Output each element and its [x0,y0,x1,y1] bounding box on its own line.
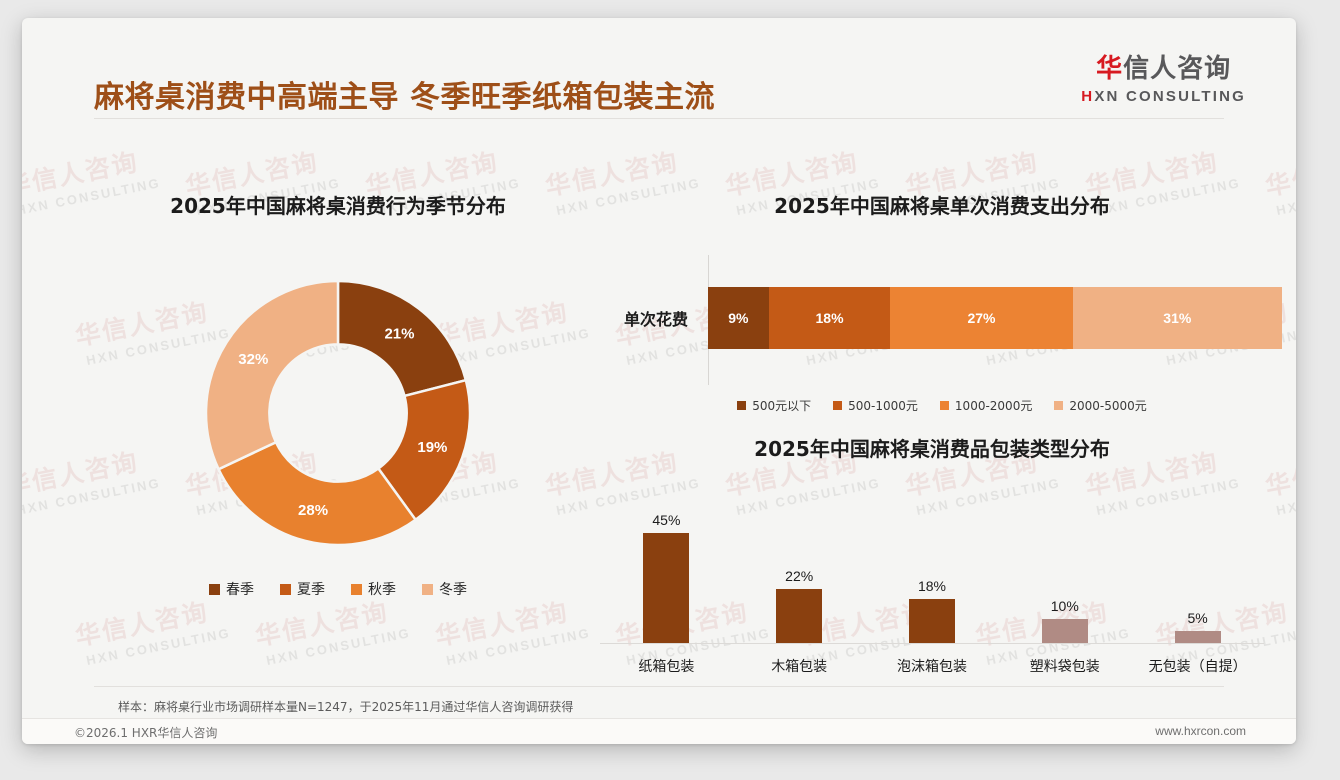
stacked-bar-segment-1000-2000元[interactable]: 27% [890,287,1072,349]
brand-logo-en: HXN CONSULTING [1081,89,1246,104]
stacked-legend-item[interactable]: 500元以下 [737,397,811,414]
column-xlabel: 泡沫箱包装 [866,656,999,676]
spend-stacked-bar-row: 9%18%27%31% [708,287,1282,349]
column-xlabel: 无包装（自提） [1131,656,1264,676]
brand-logo-en-rest: XN CONSULTING [1094,88,1246,105]
stacked-legend-item[interactable]: 1000-2000元 [940,397,1032,414]
spend-stacked-plot: 单次花费 9%18%27%31% [602,255,1282,385]
spend-category-label: 单次花费 [602,287,698,349]
brand-logo-en-highlight: H [1081,88,1094,105]
legend-swatch-icon [833,401,842,410]
column-cell: 5% [1131,492,1264,643]
column-value-label: 22% [785,568,813,584]
legend-swatch-icon [351,584,362,595]
column-cell: 45% [600,492,733,643]
packaging-column-title: 2025年中国麻将桌消费品包装类型分布 [582,433,1282,462]
donut-slice-label: 21% [384,326,414,343]
stacked-bar-segment-500-1000元[interactable]: 18% [769,287,891,349]
column-cell: 18% [866,492,999,643]
brand-logo: 华信人咨询 HXN CONSULTING [1081,56,1246,104]
season-donut-legend: 春季夏季秋季冬季 [68,579,608,599]
footer-copyright: ©2026.1 HXR华信人咨询 [74,724,217,741]
donut-slice-冬季[interactable] [206,281,338,469]
legend-swatch-icon [940,401,949,410]
slide-header: 麻将桌消费中高端主导 冬季旺季纸箱包装主流 华信人咨询 HXN CONSULTI… [22,18,1296,118]
packaging-column-baseline [600,643,1264,644]
page-title: 麻将桌消费中高端主导 冬季旺季纸箱包装主流 [94,72,715,116]
stacked-legend-item[interactable]: 500-1000元 [833,397,918,414]
season-donut-panel: 2025年中国麻将桌消费行为季节分布 21%19%28%32% 春季夏季秋季冬季 [68,168,608,658]
spend-stacked-title: 2025年中国麻将桌单次消费支出分布 [602,190,1282,219]
column-bar-塑料袋包装[interactable] [1042,619,1088,643]
column-value-label: 45% [652,512,680,528]
packaging-column-bars: 45%22%18%10%5% [600,492,1264,643]
packaging-column-xlabels: 纸箱包装木箱包装泡沫箱包装塑料袋包装无包装（自提） [600,656,1264,676]
column-xlabel: 塑料袋包装 [998,656,1131,676]
footnote-divider [94,686,1224,687]
donut-slice-label: 28% [298,502,328,519]
column-value-label: 10% [1051,598,1079,614]
column-cell: 22% [733,492,866,643]
stacked-bar-segment-2000-5000元[interactable]: 31% [1073,287,1282,349]
column-xlabel: 纸箱包装 [600,656,733,676]
packaging-column-panel: 2025年中国麻将桌消费品包装类型分布 45%22%18%10%5% 纸箱包装木… [582,433,1282,683]
column-bar-泡沫箱包装[interactable] [909,599,955,643]
donut-legend-item[interactable]: 春季 [209,579,254,599]
footer-website[interactable]: www.hxrcon.com [1155,724,1246,738]
donut-legend-item[interactable]: 秋季 [351,579,396,599]
donut-legend-label: 秋季 [368,579,396,599]
season-donut-chart: 21%19%28%32% [198,273,478,553]
column-xlabel: 木箱包装 [733,656,866,676]
stacked-legend-label: 500-1000元 [848,397,918,414]
slide-footer: ©2026.1 HXR华信人咨询 www.hxrcon.com [22,719,1296,744]
column-bar-木箱包装[interactable] [776,589,822,643]
donut-slice-秋季[interactable] [219,442,416,545]
brand-logo-cn-highlight: 华 [1096,54,1123,84]
donut-legend-item[interactable]: 夏季 [280,579,325,599]
legend-swatch-icon [737,401,746,410]
stacked-bar-segment-500元以下[interactable]: 9% [708,287,769,349]
donut-legend-label: 夏季 [297,579,325,599]
stacked-legend-item[interactable]: 2000-5000元 [1054,397,1146,414]
column-value-label: 5% [1187,610,1207,626]
donut-legend-label: 春季 [226,579,254,599]
stacked-legend-label: 1000-2000元 [955,397,1032,414]
spend-stacked-legend: 500元以下500-1000元1000-2000元2000-5000元 [602,397,1282,414]
donut-legend-item[interactable]: 冬季 [422,579,467,599]
brand-logo-cn-rest: 信人咨询 [1123,54,1231,84]
legend-swatch-icon [280,584,291,595]
legend-swatch-icon [209,584,220,595]
season-donut-svg: 21%19%28%32% [198,273,478,553]
legend-swatch-icon [422,584,433,595]
stacked-legend-label: 2000-5000元 [1069,397,1146,414]
legend-swatch-icon [1054,401,1063,410]
stacked-legend-label: 500元以下 [752,397,811,414]
packaging-column-plot: 45%22%18%10%5% 纸箱包装木箱包装泡沫箱包装塑料袋包装无包装（自提） [582,492,1282,644]
column-bar-纸箱包装[interactable] [643,533,689,643]
donut-slice-label: 19% [417,439,447,456]
brand-logo-cn: 华信人咨询 [1081,56,1246,82]
donut-slice-label: 32% [238,351,268,368]
slide-canvas: 华信人咨询HXN CONSULTING华信人咨询HXN CONSULTING华信… [22,18,1296,744]
column-value-label: 18% [918,578,946,594]
column-cell: 10% [998,492,1131,643]
season-donut-title: 2025年中国麻将桌消费行为季节分布 [68,190,608,219]
footnote-text: 样本：麻将桌行业市场调研样本量N=1247，于2025年11月通过华信人咨询调研… [118,698,573,715]
column-bar-无包装（自提）[interactable] [1175,631,1221,643]
donut-legend-label: 冬季 [439,579,467,599]
header-divider [94,118,1224,119]
spend-stacked-panel: 2025年中国麻将桌单次消费支出分布 单次花费 9%18%27%31% 500元… [602,168,1282,413]
